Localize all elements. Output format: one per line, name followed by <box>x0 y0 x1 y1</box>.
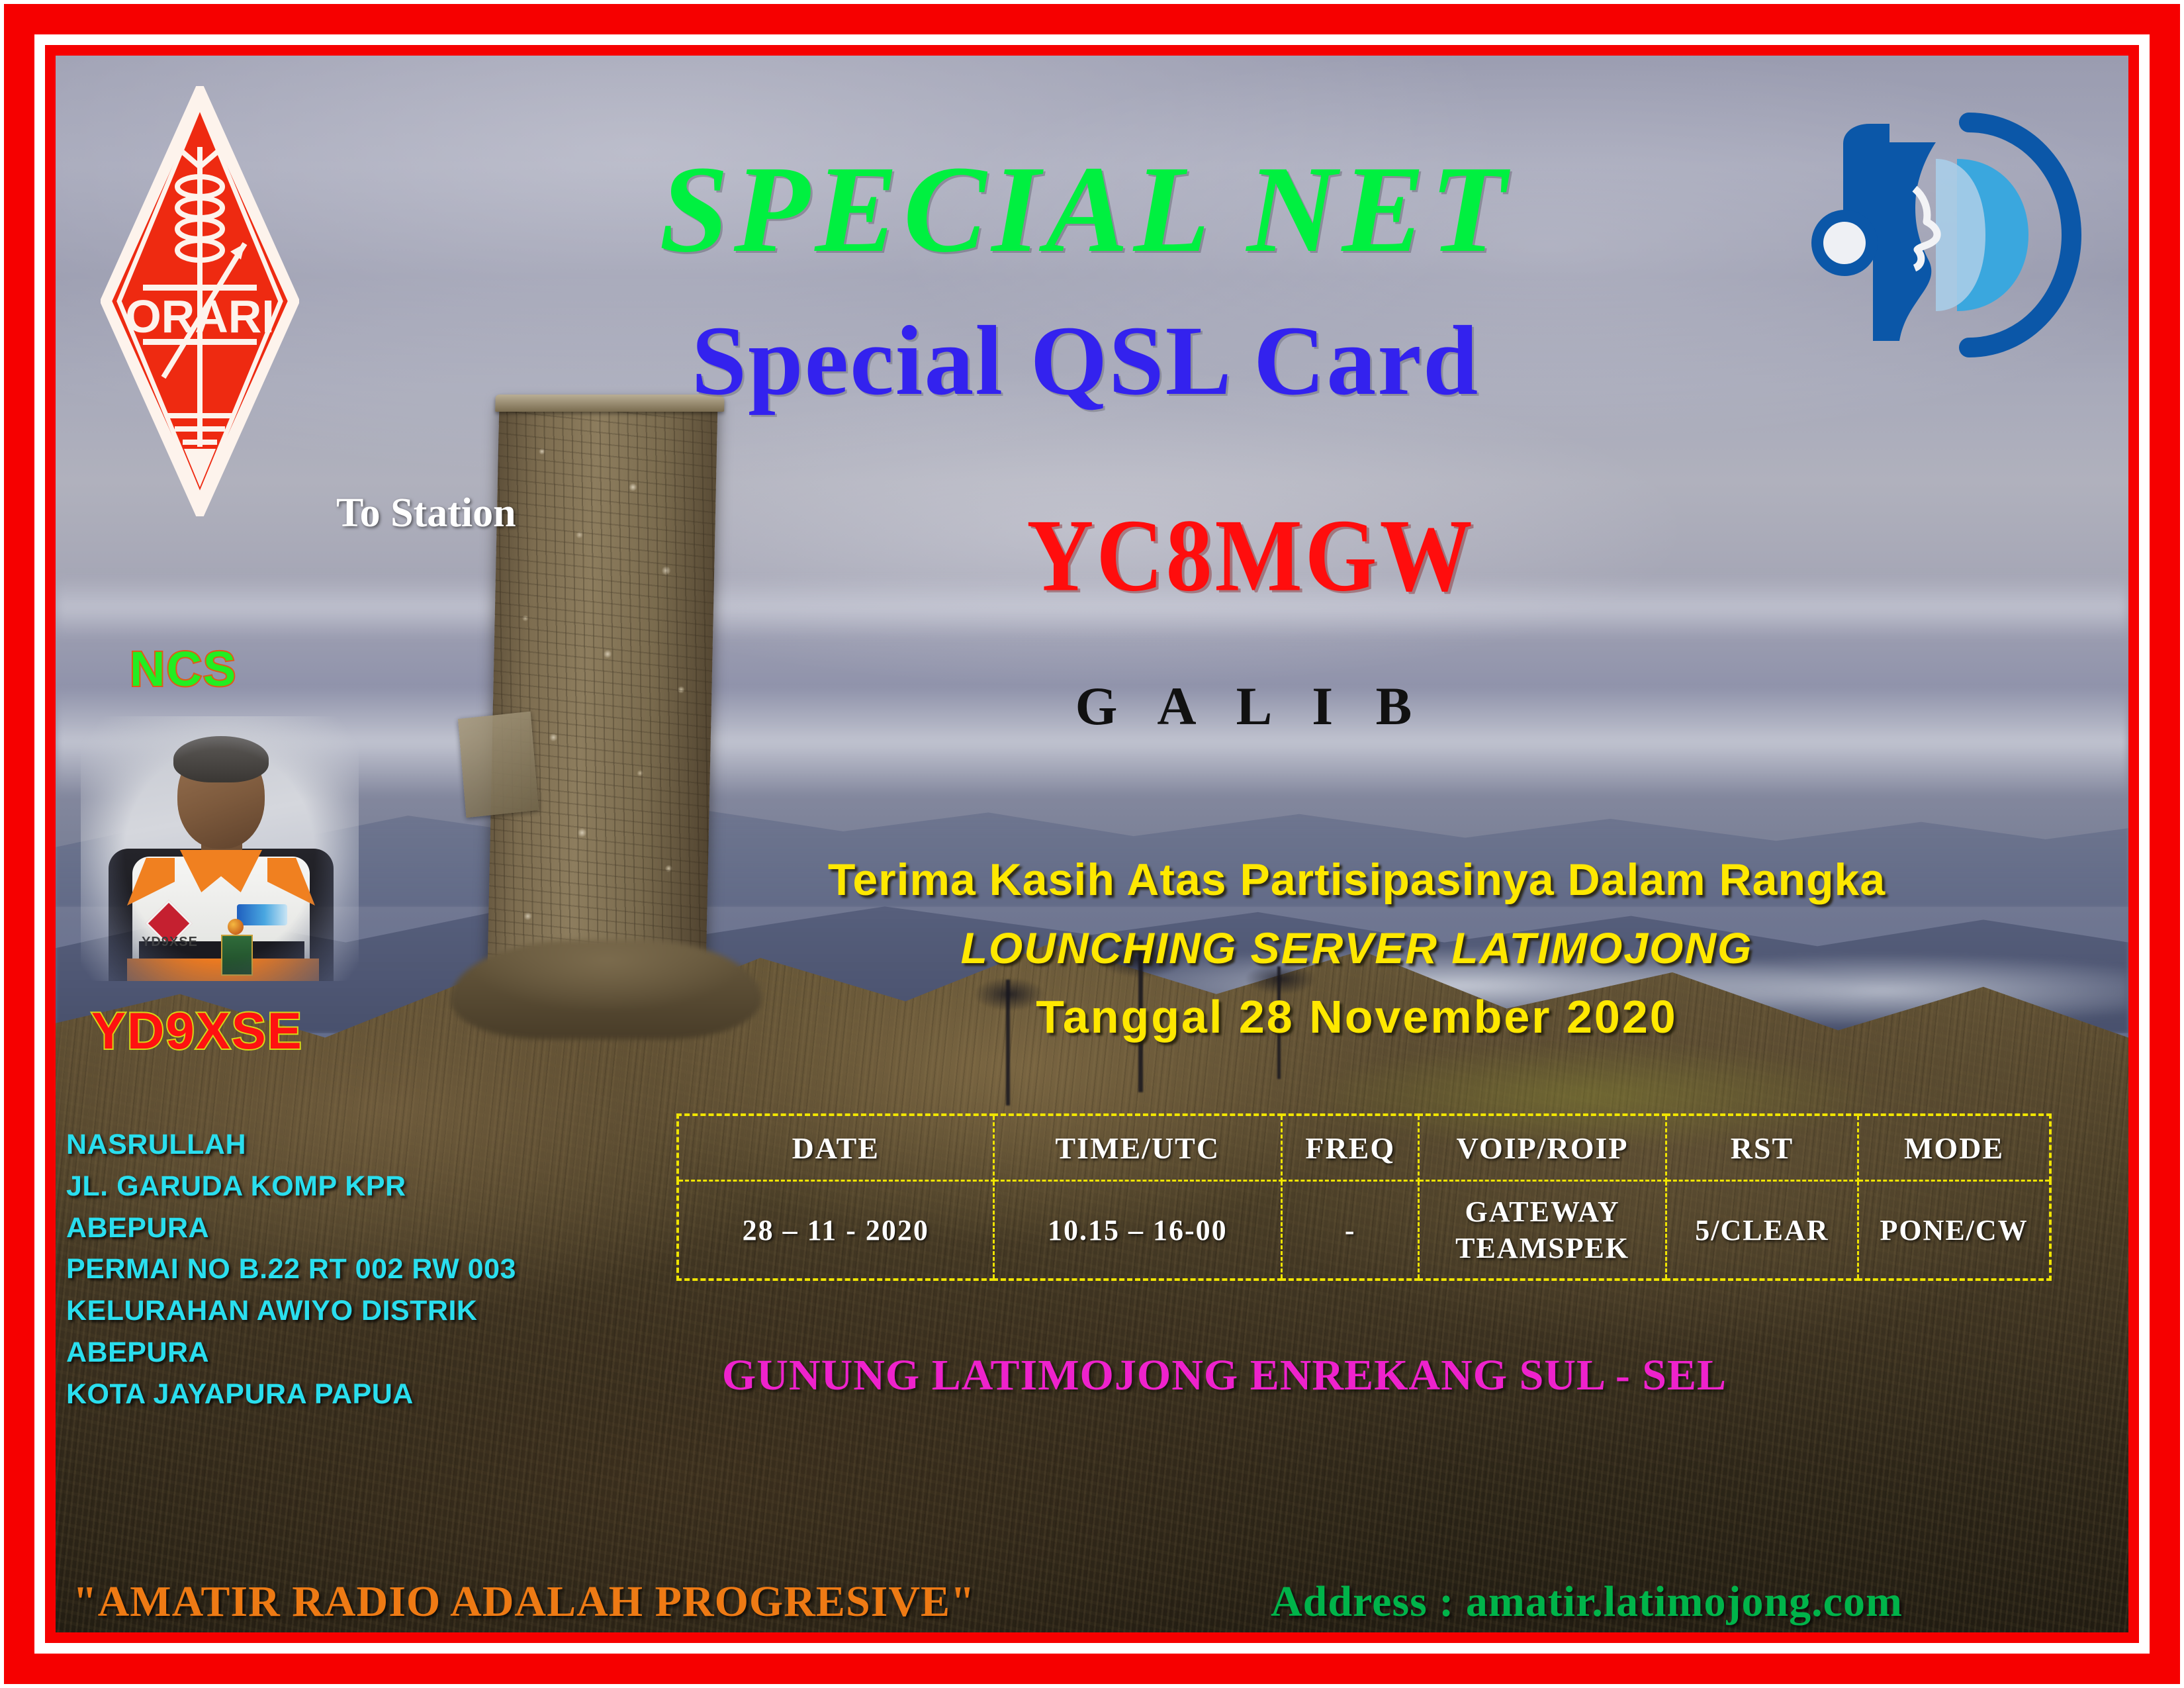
address-line: KELURAHAN AWIYO DISTRIK <box>66 1290 662 1332</box>
operator-name: G A L I B <box>854 675 1648 737</box>
roip-headset-logo-icon <box>1803 96 2081 374</box>
column-header-freq: FREQ <box>1282 1115 1419 1181</box>
table-header-row: DATE TIME/UTC FREQ VOIP/ROIP RST MODE <box>678 1115 2050 1181</box>
column-header-date: DATE <box>678 1115 993 1181</box>
column-header-time: TIME/UTC <box>993 1115 1282 1181</box>
station-callsign: YC8MGW <box>854 504 1648 608</box>
cell-mode: PONE/CW <box>1858 1181 2050 1280</box>
hair <box>173 736 269 782</box>
page-title: SPECIAL NET <box>457 147 1714 271</box>
event-title-line: LOUNCHING SERVER LATIMOJONG <box>662 923 2052 973</box>
address-line: PERMAI NO B.22 RT 002 RW 003 <box>66 1248 662 1290</box>
ncs-address-block: NASRULLAH JL. GARUDA KOMP KPR ABEPURA PE… <box>66 1124 662 1415</box>
column-header-mode: MODE <box>1858 1115 2050 1181</box>
page-subtitle: Special QSL Card <box>457 311 1714 410</box>
to-station-label: To Station <box>336 490 516 537</box>
event-thanks-line: Terima Kasih Atas Partisipasinya Dalam R… <box>662 854 2052 906</box>
address-line: ABEPURA <box>66 1207 662 1249</box>
orari-logo-icon: ORARI <box>101 86 299 516</box>
cell-voip: GATEWAY TEAMSPEK <box>1419 1181 1666 1280</box>
orari-logo-label: ORARI <box>125 291 275 342</box>
location-caption: GUNUNG LATIMOJONG ENREKANG SUL - SEL <box>596 1350 1853 1401</box>
club-logo-patch-icon <box>237 904 287 925</box>
cell-date: 28 – 11 - 2020 <box>678 1181 993 1280</box>
ncs-label: NCS <box>130 641 237 697</box>
uniform-callsign-text: YD9XSE <box>142 935 198 950</box>
address-line: NASRULLAH <box>66 1124 662 1166</box>
address-line: KOTA JAYAPURA PAPUA <box>66 1374 662 1415</box>
id-badge <box>221 935 253 976</box>
column-header-rst: RST <box>1666 1115 1858 1181</box>
qso-log-table: DATE TIME/UTC FREQ VOIP/ROIP RST MODE 28… <box>676 1113 2052 1281</box>
ncs-callsign: YD9XSE <box>91 1001 303 1061</box>
footer-website: Address : amatir.latimojong.com <box>1271 1577 1903 1627</box>
cell-time: 10.15 – 16-00 <box>993 1181 1282 1280</box>
cell-rst: 5/CLEAR <box>1666 1181 1858 1280</box>
address-line: JL. GARUDA KOMP KPR <box>66 1166 662 1207</box>
column-header-voip: VOIP/ROIP <box>1419 1115 1666 1181</box>
badge-clip-icon <box>228 919 244 935</box>
event-block: Terima Kasih Atas Partisipasinya Dalam R… <box>662 854 2052 1043</box>
monument-plaque <box>458 712 539 818</box>
ncs-operator-photo: YD9XSE <box>81 716 359 981</box>
address-line: ABEPURA <box>66 1332 662 1374</box>
qsl-card: ORARI SPECIAL NET Special QSL Card To St… <box>0 0 2184 1688</box>
event-date-line: Tanggal 28 November 2020 <box>662 990 2052 1043</box>
cell-freq: - <box>1282 1181 1419 1280</box>
footer-slogan: "AMATIR RADIO ADALAH PROGRESIVE" <box>73 1577 976 1627</box>
avatar: YD9XSE <box>81 716 359 981</box>
table-row: 28 – 11 - 2020 10.15 – 16-00 - GATEWAY T… <box>678 1181 2050 1280</box>
